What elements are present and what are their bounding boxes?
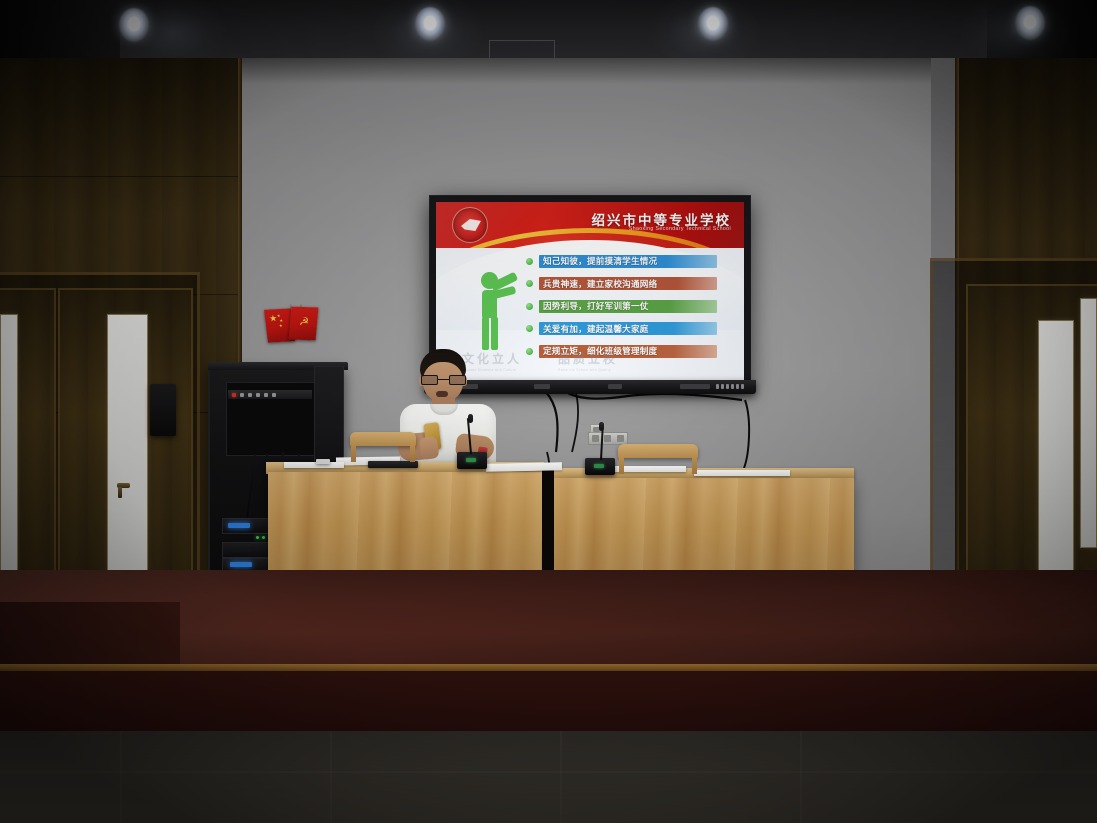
blue-status-led — [230, 562, 252, 567]
slide-footer-item: 品质立校 Raise the School with Quality — [558, 350, 618, 372]
slide-bullet-item: 关爱有加，建起温馨大家庭 — [526, 322, 734, 336]
door-right[interactable] — [966, 284, 1097, 606]
door-left-inner[interactable] — [58, 288, 193, 600]
rack-outlet — [240, 393, 244, 397]
slide-bullet-item: 因势利导，打好军训第一仗 — [526, 299, 734, 313]
rack-outlet — [256, 393, 260, 397]
bullet-bar: 知己知彼，提前摸清学生情况 — [539, 255, 717, 268]
door-glass-panel — [0, 314, 18, 576]
bullet-dot-icon — [526, 325, 533, 332]
slide-footer-en: Raise the School with Quality — [558, 368, 618, 372]
bullet-text: 因势利导，打好军训第一仗 — [543, 300, 649, 312]
door-far-right-glass — [1080, 298, 1097, 548]
bullet-bar: 因势利导，打好军训第一仗 — [539, 300, 717, 313]
bullet-dot-icon — [526, 303, 533, 310]
wall-flags: ★ ★ ★ ★ ☭ — [266, 300, 324, 358]
rack-outlet — [272, 393, 276, 397]
downlight-1-icon — [119, 8, 149, 42]
bullet-text: 知己知彼，提前摸清学生情况 — [543, 255, 657, 267]
slide-footer-cn: 品质立校 — [558, 350, 618, 367]
green-status-led — [262, 536, 265, 539]
mic-head-right — [599, 422, 604, 431]
room-floor — [0, 731, 1097, 823]
presenter-hand — [419, 436, 440, 460]
room-scene: ★ ★ ★ ★ ☭ — [0, 0, 1097, 823]
door-left[interactable] — [0, 288, 56, 600]
ceiling-shadow-left — [0, 0, 120, 62]
bullet-text: 关爱有加，建起温馨大家庭 — [543, 323, 649, 335]
bullet-bar: 关爱有加，建起温馨大家庭 — [539, 322, 717, 335]
school-crest-logo-icon — [452, 207, 488, 243]
bullet-dot-icon — [526, 258, 533, 265]
slide-subtitle: Shaoxing Secondary Technical School — [629, 226, 731, 232]
slide-bullet-item: 兵贵神速，建立家校沟通网络 — [526, 277, 734, 291]
eyeglasses-icon — [421, 375, 466, 385]
desk-object[interactable] — [316, 459, 330, 464]
mic-status-led — [466, 458, 476, 462]
blue-status-led — [228, 523, 250, 528]
rack-power-led — [232, 393, 236, 397]
rack-power-strip — [228, 390, 312, 399]
stage-front-trim — [0, 664, 1097, 671]
display-button[interactable] — [608, 384, 622, 389]
slide-bullet-item: 知己知彼，提前摸清学生情况 — [526, 254, 734, 268]
mic-status-led — [594, 464, 604, 468]
floor-speaker — [150, 384, 176, 436]
door-handle-icon[interactable] — [117, 483, 130, 488]
chair-right[interactable] — [618, 444, 698, 478]
rack-cable — [246, 454, 256, 518]
bullet-text: 兵贵神速，建立家校沟通网络 — [543, 278, 657, 290]
door-glass-panel — [107, 314, 148, 574]
downlight-2-icon — [415, 7, 445, 41]
display-ports[interactable] — [716, 384, 744, 389]
display-button[interactable] — [534, 384, 550, 389]
display-button[interactable] — [680, 384, 710, 389]
microphone-left[interactable] — [457, 452, 487, 469]
bullet-dot-icon — [526, 280, 533, 287]
desk-papers[interactable] — [486, 462, 562, 472]
green-person-pictogram-icon — [472, 272, 518, 350]
downlight-3-icon — [698, 7, 728, 41]
microphone-right[interactable] — [585, 458, 615, 475]
rack-outlet — [248, 393, 252, 397]
mic-head-left — [468, 414, 473, 423]
rack-outlet — [264, 393, 268, 397]
slide-bullet-list: 知己知彼，提前摸清学生情况 兵贵神速，建立家校沟通网络 因势利导，打好军训第一仗 — [526, 254, 734, 358]
communist-party-flag-icon: ☭ — [289, 307, 319, 341]
bullet-bar: 兵贵神速，建立家校沟通网络 — [539, 277, 717, 290]
desk-papers[interactable] — [284, 462, 344, 468]
desk-papers[interactable] — [694, 470, 790, 476]
door-glass-panel — [1038, 320, 1074, 598]
chair-left[interactable] — [350, 432, 416, 466]
downlight-4-icon — [1015, 6, 1045, 40]
green-status-led — [256, 536, 259, 539]
